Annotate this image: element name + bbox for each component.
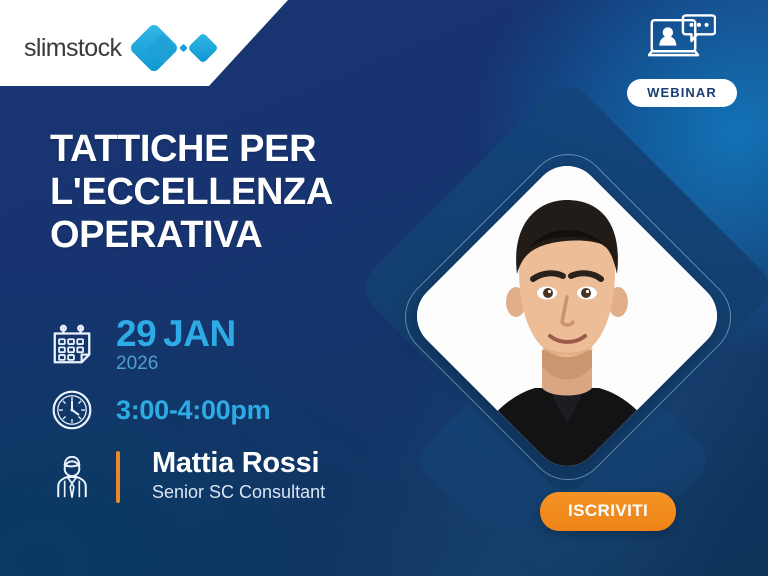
speaker-role: Senior SC Consultant	[152, 479, 325, 506]
event-time-row: 3:00-4:00pm	[46, 382, 426, 438]
event-details: 29JAN 2026	[46, 308, 426, 512]
speaker-divider	[116, 451, 120, 503]
person-suit-icon	[46, 453, 98, 501]
webinar-badge-label: WEBINAR	[627, 79, 737, 107]
title-line-2: L'ECCELLENZA	[50, 171, 410, 214]
title-line-1: TATTICHE PER	[50, 128, 410, 171]
register-button[interactable]: ISCRIVITI	[540, 492, 676, 531]
page-title: TATTICHE PER L'ECCELLENZA OPERATIVA	[50, 128, 410, 257]
webinar-promo-banner: slimstock	[0, 0, 768, 576]
brand-logo[interactable]: slimstock	[24, 24, 217, 72]
event-date-row: 29JAN 2026	[46, 308, 426, 382]
clock-icon	[46, 388, 98, 432]
webinar-laptop-icon	[648, 55, 716, 72]
event-date-main: 29JAN	[116, 315, 236, 352]
slimstock-diamond-logo-icon	[131, 24, 217, 72]
speaker-name: Mattia Rossi	[152, 448, 325, 478]
event-time: 3:00-4:00pm	[116, 395, 270, 426]
speaker-info: Mattia Rossi Senior SC Consultant	[152, 448, 325, 505]
event-speaker-row: Mattia Rossi Senior SC Consultant	[46, 442, 426, 512]
event-day: 29	[116, 313, 156, 354]
event-month: JAN	[163, 313, 236, 354]
event-year: 2026	[116, 352, 236, 376]
webinar-badge: WEBINAR	[622, 12, 742, 107]
calendar-icon	[46, 322, 98, 368]
brand-name: slimstock	[24, 34, 121, 63]
event-date: 29JAN 2026	[116, 315, 236, 376]
title-line-3: OPERATIVA	[50, 214, 410, 257]
